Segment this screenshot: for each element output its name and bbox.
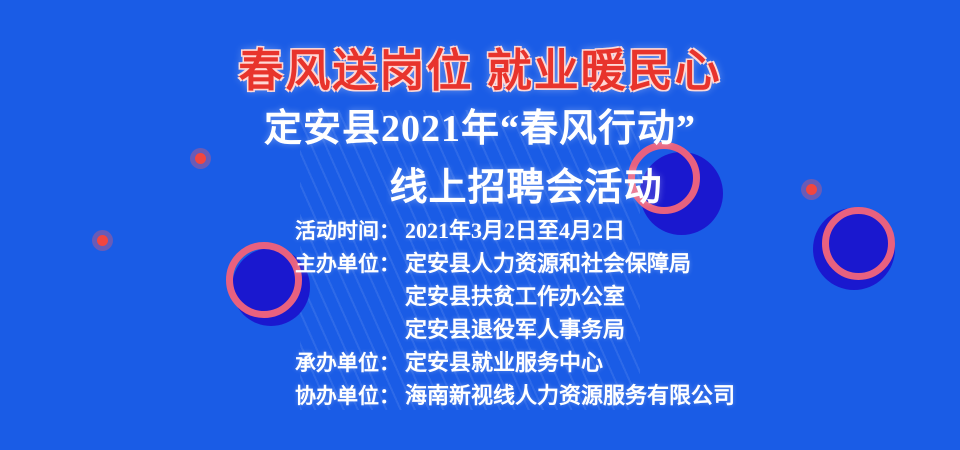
- info-label: 主办单位：: [0, 248, 405, 278]
- subtitle-line-1: 定安县2021年“春风行动”: [0, 97, 960, 152]
- info-row: 主办单位： 定安县人力资源和社会保障局: [0, 246, 960, 279]
- info-value: 定安县人力资源和社会保障局: [405, 246, 691, 278]
- info-row: 协办单位： 海南新视线人力资源服务有限公司: [0, 378, 960, 411]
- info-row: 定安县扶贫工作办公室: [0, 279, 960, 312]
- info-value: 定安县就业服务中心: [405, 345, 603, 377]
- event-info-block: 活动时间： 2021年3月2日至4月2日 主办单位： 定安县人力资源和社会保障局…: [0, 213, 960, 411]
- info-row: 承办单位： 定安县就业服务中心: [0, 345, 960, 378]
- subtitle-line-2: 线上招聘会活动: [0, 156, 960, 211]
- info-row: 活动时间： 2021年3月2日至4月2日: [0, 213, 960, 246]
- info-label: 协办单位：: [0, 380, 405, 410]
- headline-slogan: 春风送岗位 就业暖民心: [0, 34, 960, 99]
- info-row: 定安县退役军人事务局: [0, 312, 960, 345]
- promo-banner: 春风送岗位 就业暖民心 定安县2021年“春风行动” 线上招聘会活动 活动时间：…: [0, 0, 960, 450]
- info-value: 定安县退役军人事务局: [405, 312, 625, 344]
- info-label: 承办单位：: [0, 347, 405, 377]
- info-value: 海南新视线人力资源服务有限公司: [405, 378, 735, 410]
- info-value: 定安县扶贫工作办公室: [405, 279, 625, 311]
- info-label: 活动时间：: [0, 215, 405, 245]
- banner-content: 春风送岗位 就业暖民心 定安县2021年“春风行动” 线上招聘会活动 活动时间：…: [0, 0, 960, 450]
- info-value: 2021年3月2日至4月2日: [405, 213, 625, 245]
